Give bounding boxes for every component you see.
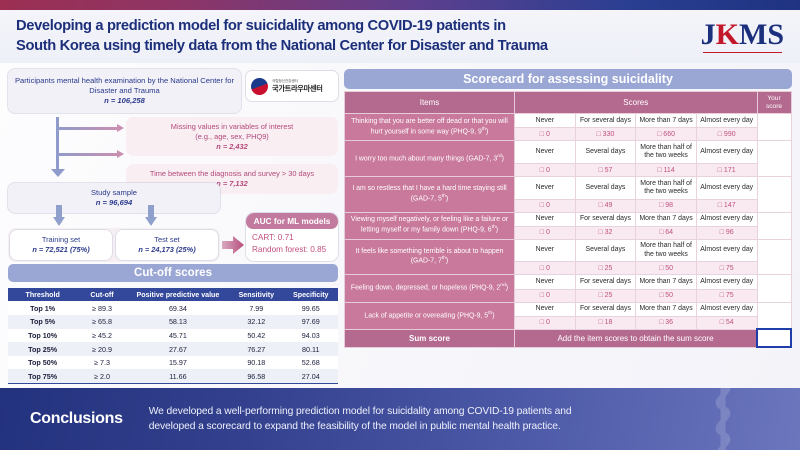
jkms-underline <box>703 52 782 54</box>
split-arrow-right-stem <box>148 205 154 217</box>
split-arrow-left-head <box>53 217 65 226</box>
scorecard-option[interactable]: More than 7 days <box>636 302 697 316</box>
scorecard-score-checkbox[interactable]: □ 64 <box>636 226 697 239</box>
title-band: Developing a prediction model for suicid… <box>0 10 800 63</box>
cutoff-col-3: Sensitivity <box>229 288 283 301</box>
scorecard-option[interactable]: Never <box>515 275 576 289</box>
scorecard-score-checkbox[interactable]: □ 0 <box>515 262 576 275</box>
scorecard-body: Thinking that you are better off dead or… <box>345 114 792 348</box>
training-set-label: Training set <box>42 235 80 245</box>
scorecard-item-row: I worry too much about many things (GAD-… <box>345 141 792 164</box>
your-score-input[interactable] <box>757 275 791 302</box>
table-row: Top 10%≥ 45.245.7150.4294.03 <box>8 329 338 343</box>
cutoff-cell: Top 50% <box>8 356 77 370</box>
table-row: Top 5%≥ 65.858.1332.1297.69 <box>8 315 338 329</box>
scorecard-score-checkbox[interactable]: □ 75 <box>696 262 757 275</box>
your-score-input[interactable] <box>757 212 791 239</box>
sum-score-input[interactable] <box>757 329 791 347</box>
participants-box: Participants mental health examination b… <box>8 69 241 113</box>
auc-title: AUC for ML models <box>246 213 338 229</box>
cutoff-cell: 50.42 <box>229 329 283 343</box>
left-column: Participants mental health examination b… <box>8 69 338 384</box>
sum-score-label: Sum score <box>345 329 515 347</box>
exclusion-arrows-area: Missing values in variables of interest … <box>8 117 338 177</box>
scorecard-item-row: It feels like something terrible is abou… <box>345 239 792 262</box>
auc-card: AUC for ML models CART: 0.71 Random fore… <box>246 213 338 261</box>
cutoff-cell: 52.68 <box>284 356 338 370</box>
vertical-connector <box>56 117 59 169</box>
conclusions-line-2: developed a scorecard to expand the feas… <box>149 419 572 434</box>
auc-cart: CART: 0.71 <box>252 232 332 244</box>
cutoff-cell: 96.58 <box>229 369 283 383</box>
scorecard-score-checkbox[interactable]: □ 49 <box>575 199 636 212</box>
scorecard-item-row: Lack of appetite or overeating (PHQ-9, 5… <box>345 302 792 316</box>
scorecard-item-text: I am so restless that I have a hard time… <box>345 177 515 213</box>
jkms-k: K <box>716 18 739 51</box>
cutoff-cell: 27.67 <box>127 342 229 356</box>
scorecard-score-checkbox[interactable]: □ 114 <box>636 164 697 177</box>
cutoff-cell: Top 5% <box>8 315 77 329</box>
scorecard-score-checkbox[interactable]: □ 660 <box>636 128 697 141</box>
table-row: Top 50%≥ 7.315.9790.1852.68 <box>8 356 338 370</box>
asclepius-rod-watermark <box>688 388 758 450</box>
page-title: Developing a prediction model for suicid… <box>16 17 701 56</box>
auc-random-forest: Random forest: 0.85 <box>252 244 332 256</box>
jkms-j: J <box>701 18 716 51</box>
cutoff-scores-table: ThresholdCut-offPositive predictive valu… <box>8 288 338 384</box>
table-row: Top 25%≥ 20.927.6776.2780.11 <box>8 342 338 356</box>
dataset-boxes: Training set n = 72,521 (75%) Test set n… <box>8 228 220 262</box>
scorecard-option[interactable]: Almost every day <box>696 302 757 316</box>
scorecard-option[interactable]: Several days <box>575 141 636 164</box>
scorecard-item-text: Thinking that you are better off dead or… <box>345 114 515 141</box>
cutoff-col-0: Threshold <box>8 288 77 301</box>
conclusions-band: Conclusions We developed a well-performi… <box>0 388 800 450</box>
split-arrow-right-head <box>145 217 157 226</box>
scorecard-table: Items Scores Your score Thinking that yo… <box>344 91 792 348</box>
auc-arrow-icon <box>222 235 244 255</box>
cutoff-cell: 32.12 <box>229 315 283 329</box>
cutoff-table-body: Top 1%≥ 89.369.347.9999.65Top 5%≥ 65.858… <box>8 301 338 383</box>
scorecard-option[interactable]: Almost every day <box>696 212 757 226</box>
scorecard-score-checkbox[interactable]: □ 0 <box>515 316 576 329</box>
scorecard-option[interactable]: More than half of the two weeks <box>636 239 697 262</box>
exclusion-1-line-1: Missing values in variables of interest <box>132 122 332 132</box>
split-arrow-left-stem <box>56 205 62 217</box>
scorecard-score-checkbox[interactable]: □ 171 <box>696 164 757 177</box>
your-score-line1: Your <box>767 95 780 102</box>
cutoff-cell: 27.04 <box>284 369 338 383</box>
scorecard-option[interactable]: Several days <box>575 177 636 200</box>
scorecard-score-checkbox[interactable]: □ 25 <box>575 289 636 302</box>
cutoff-cell: 7.99 <box>229 301 283 315</box>
split-arrows <box>8 205 220 225</box>
scorecard-item-row: Feeling down, depressed, or hopeless (PH… <box>345 275 792 289</box>
scorecard-item-text: Feeling down, depressed, or hopeless (PH… <box>345 275 515 302</box>
scorecard-item-text: Viewing myself negatively, or feeling li… <box>345 212 515 239</box>
test-set-box: Test set n = 24,173 (25%) <box>116 230 218 260</box>
scorecard-header-row: Items Scores Your score <box>345 92 792 114</box>
your-score-input[interactable] <box>757 177 791 213</box>
scorecard-option[interactable]: More than 7 days <box>636 212 697 226</box>
body-area: Participants mental health examination b… <box>0 63 800 388</box>
cutoff-cell: ≥ 7.3 <box>77 356 127 370</box>
scorecard-score-checkbox[interactable]: □ 330 <box>575 128 636 141</box>
cutoff-header-row: ThresholdCut-offPositive predictive valu… <box>8 288 338 301</box>
your-score-input[interactable] <box>757 114 791 141</box>
title-line-1: Developing a prediction model for suicid… <box>16 17 701 37</box>
scorecard-option[interactable]: For several days <box>575 212 636 226</box>
cutoff-col-1: Cut-off <box>77 288 127 301</box>
test-set-label: Test set <box>154 235 179 245</box>
scorecard-option[interactable]: Never <box>515 302 576 316</box>
exclusion-1-count: n = 2,432 <box>132 142 332 152</box>
scorecard-score-checkbox[interactable]: □ 0 <box>515 164 576 177</box>
scorecard-item-text: Lack of appetite or overeating (PHQ-9, 5… <box>345 302 515 329</box>
sum-score-instruction: Add the item scores to obtain the sum sc… <box>515 329 758 347</box>
top-gradient-strip <box>0 0 800 10</box>
taegeuk-icon <box>251 78 268 95</box>
conclusions-text: We developed a well-performing predictio… <box>149 404 572 435</box>
cutoff-cell: Top 75% <box>8 369 77 383</box>
study-sample-label: Study sample <box>14 188 214 198</box>
jkms-ms: MS <box>739 18 784 51</box>
scorecard-item-row: I am so restless that I have a hard time… <box>345 177 792 200</box>
scorecard-option[interactable]: Never <box>515 141 576 164</box>
cutoff-cell: Top 25% <box>8 342 77 356</box>
cutoff-cell: 90.18 <box>229 356 283 370</box>
scorecard-score-checkbox[interactable]: □ 990 <box>696 128 757 141</box>
scorecard-option[interactable]: For several days <box>575 114 636 128</box>
scorecard-option[interactable]: Never <box>515 239 576 262</box>
participants-count: n = 106,258 <box>14 96 235 106</box>
cutoff-cell: Top 1% <box>8 301 77 315</box>
cutoff-cell: 69.34 <box>127 301 229 315</box>
scorecard-option[interactable]: More than 7 days <box>636 275 697 289</box>
scorecard-score-checkbox[interactable]: □ 0 <box>515 128 576 141</box>
scorecard-option[interactable]: More than 7 days <box>636 114 697 128</box>
scorecard-option[interactable]: Never <box>515 114 576 128</box>
cutoff-cell: ≥ 20.9 <box>77 342 127 356</box>
down-arrow-head <box>51 169 65 177</box>
exclusion-2-line-1: Time between the diagnosis and survey > … <box>132 169 332 179</box>
scorecard-option[interactable]: Almost every day <box>696 177 757 200</box>
scorecard-score-checkbox[interactable]: □ 32 <box>575 226 636 239</box>
scorecard-score-checkbox[interactable]: □ 75 <box>696 289 757 302</box>
your-score-input[interactable] <box>757 239 791 275</box>
cutoff-scores-title: Cut-off scores <box>8 264 338 282</box>
scorecard-option[interactable]: More than half of the two weeks <box>636 141 697 164</box>
cutoff-cell: 80.11 <box>284 342 338 356</box>
scorecard-score-checkbox[interactable]: □ 25 <box>575 262 636 275</box>
table-row: Top 75%≥ 2.011.6696.5827.04 <box>8 369 338 383</box>
scorecard-option[interactable]: Almost every day <box>696 141 757 164</box>
scorecard-score-checkbox[interactable]: □ 50 <box>636 289 697 302</box>
scorecard-col-scores: Scores <box>515 92 758 114</box>
right-column: Scorecard for assessing suicidality Item… <box>344 69 792 384</box>
scorecard-score-checkbox[interactable]: □ 36 <box>636 316 697 329</box>
cutoff-cell: ≥ 45.2 <box>77 329 127 343</box>
scorecard-score-checkbox[interactable]: □ 0 <box>515 199 576 212</box>
cutoff-cell: 45.71 <box>127 329 229 343</box>
cutoff-col-4: Specificity <box>284 288 338 301</box>
infographic-poster: Developing a prediction model for suicid… <box>0 0 800 450</box>
participants-row: Participants mental health examination b… <box>8 69 338 113</box>
ncmh-logo: 국립정신건강센터 국가트라우마센터 <box>246 71 338 101</box>
training-set-count: n = 72,521 (75%) <box>32 245 89 255</box>
scorecard-option[interactable]: Almost every day <box>696 275 757 289</box>
cutoff-cell: 97.69 <box>284 315 338 329</box>
cutoff-cell: 15.97 <box>127 356 229 370</box>
scorecard-option[interactable]: Never <box>515 212 576 226</box>
table-row: Top 1%≥ 89.369.347.9999.65 <box>8 301 338 315</box>
cutoff-cell: 99.65 <box>284 301 338 315</box>
scorecard-score-checkbox[interactable]: □ 18 <box>575 316 636 329</box>
scorecard-score-checkbox[interactable]: □ 0 <box>515 226 576 239</box>
conclusions-line-1: We developed a well-performing predictio… <box>149 404 572 419</box>
cutoff-cell: 94.03 <box>284 329 338 343</box>
cutoff-cell: 58.13 <box>127 315 229 329</box>
scorecard-score-checkbox[interactable]: □ 147 <box>696 199 757 212</box>
scorecard-score-checkbox[interactable]: □ 98 <box>636 199 697 212</box>
cutoff-cell: Top 10% <box>8 329 77 343</box>
scorecard-item-row: Viewing myself negatively, or feeling li… <box>345 212 792 226</box>
scorecard-col-your-score: Your score <box>757 92 791 114</box>
cutoff-cell: ≥ 2.0 <box>77 369 127 383</box>
scorecard-option[interactable]: For several days <box>575 302 636 316</box>
cutoff-cell: ≥ 89.3 <box>77 301 127 315</box>
scorecard-score-checkbox[interactable]: □ 96 <box>696 226 757 239</box>
scorecard-item-text: I worry too much about many things (GAD-… <box>345 141 515 177</box>
cutoff-cell: 11.66 <box>127 369 229 383</box>
your-score-line2: score <box>766 103 782 110</box>
scorecard-score-checkbox[interactable]: □ 0 <box>515 289 576 302</box>
title-line-2: South Korea using timely data from the N… <box>16 37 701 57</box>
your-score-input[interactable] <box>757 141 791 177</box>
exclusion-arrow-2 <box>56 153 118 156</box>
scorecard-option[interactable]: For several days <box>575 275 636 289</box>
scorecard-score-checkbox[interactable]: □ 50 <box>636 262 697 275</box>
scorecard-item-text: It feels like something terrible is abou… <box>345 239 515 275</box>
sum-score-row: Sum scoreAdd the item scores to obtain t… <box>345 329 792 347</box>
exclusion-1-line-2: (e.g., age, sex, PHQ9) <box>132 132 332 142</box>
sample-split-area: Study sample n = 96,694 Training set n =… <box>8 183 338 258</box>
participants-text: Participants mental health examination b… <box>14 76 235 96</box>
scorecard-score-checkbox[interactable]: □ 57 <box>575 164 636 177</box>
scorecard-item-row: Thinking that you are better off dead or… <box>345 114 792 128</box>
exclusion-box-1: Missing values in variables of interest … <box>126 117 338 156</box>
conclusions-label: Conclusions <box>30 410 123 428</box>
cutoff-cell: ≥ 65.8 <box>77 315 127 329</box>
cutoff-col-2: Positive predictive value <box>127 288 229 301</box>
scorecard-option[interactable]: Almost every day <box>696 114 757 128</box>
scorecard-col-items: Items <box>345 92 515 114</box>
scorecard-option[interactable]: Several days <box>575 239 636 262</box>
scorecard-option[interactable]: More than half of the two weeks <box>636 177 697 200</box>
test-set-count: n = 24,173 (25%) <box>138 245 195 255</box>
auc-values: CART: 0.71 Random forest: 0.85 <box>246 229 338 259</box>
exclusion-arrow-1 <box>56 127 118 130</box>
scorecard-option[interactable]: Almost every day <box>696 239 757 262</box>
cutoff-cell: 76.27 <box>229 342 283 356</box>
ncmh-logo-main: 국가트라우마센터 <box>272 84 323 94</box>
your-score-input[interactable] <box>757 302 791 329</box>
scorecard-score-checkbox[interactable]: □ 54 <box>696 316 757 329</box>
scorecard-title: Scorecard for assessing suicidality <box>344 69 792 89</box>
scorecard-option[interactable]: Never <box>515 177 576 200</box>
jkms-logo: JKMS <box>701 20 784 53</box>
training-set-box: Training set n = 72,521 (75%) <box>10 230 112 260</box>
